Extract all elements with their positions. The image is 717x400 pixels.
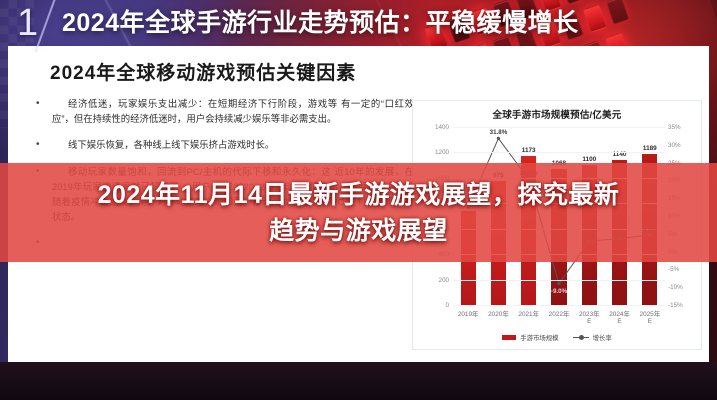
list-item: • 线下娱乐恢复，各种线上线下娱乐挤占游戏时长。 <box>36 137 414 152</box>
legend-item-market-size: 手游市场规模 <box>502 333 558 342</box>
screenshot-root: 1 2024年全球手游行业走势预估：平稳缓慢增长 2024年全球移动游戏预估关键… <box>0 0 717 400</box>
x-tick-label: 2023年E <box>577 309 602 323</box>
section-number: 1 <box>17 2 38 44</box>
legend-item-growth-rate: 增长率 <box>573 333 612 342</box>
x-tick-label: 2024年E <box>607 309 632 323</box>
y-tick-left: 1400 <box>435 124 449 131</box>
line-point-label: 31.8% <box>490 129 508 136</box>
x-tick-label: 2022年 <box>547 309 572 323</box>
y-tick-left: 200 <box>438 277 449 284</box>
overlay-title-line-1: 2024年11月14日最新手游游戏展望，探究最新 <box>98 178 620 212</box>
bullet-text: 线下娱乐恢复，各种线上线下娱乐挤占游戏时长。 <box>52 137 414 152</box>
y-tick-left: 0 <box>445 302 449 309</box>
bottom-dark-band <box>0 362 717 400</box>
chart-x-axis: 2019年2020年2021年2022年2023年E2024年E2025年E <box>453 309 665 323</box>
gridline <box>453 305 665 306</box>
chart-title: 全球手游市场规模预估/亿美元 <box>413 107 701 121</box>
bullet-text: 经济低迷，玩家娱乐支出减少：在短期经济下行阶段，游戏等 有一定的“口红效应”，但… <box>52 96 414 126</box>
x-tick-label: 2020年 <box>486 309 511 323</box>
bullet-marker: • <box>36 137 52 152</box>
x-tick-label: 2019年 <box>456 309 481 323</box>
legend-line-swatch <box>573 335 589 341</box>
gridline <box>453 127 665 128</box>
chart-legend: 手游市场规模 增长率 <box>413 333 701 342</box>
y-tick-right: -15% <box>668 302 683 309</box>
legend-label: 增长率 <box>593 333 612 342</box>
list-item: • 经济低迷，玩家娱乐支出减少：在短期经济下行阶段，游戏等 有一定的“口红效应”… <box>36 96 414 126</box>
legend-label: 手游市场规模 <box>520 333 558 342</box>
header-bar: 1 2024年全球手游行业走势预估：平稳缓慢增长 <box>0 0 717 46</box>
y-tick-right: -5% <box>668 266 679 273</box>
overlay-title: 2024年11月14日最新手游游戏展望，探究最新 趋势与游戏展望 <box>0 163 717 262</box>
y-tick-right: 30% <box>668 142 681 149</box>
y-tick-right: 35% <box>668 124 681 131</box>
gridline <box>453 152 665 153</box>
y-tick-right: -10% <box>668 284 683 291</box>
header-title: 2024年全球手游行业走势预估：平稳缓慢增长 <box>62 7 579 39</box>
x-tick-label: 2021年 <box>516 309 541 323</box>
slide-title: 2024年全球移动游戏预估关键因素 <box>50 58 356 85</box>
overlay-title-line-2: 趋势与游戏展望 <box>269 214 448 248</box>
bullet-marker: • <box>36 96 52 126</box>
legend-bar-swatch <box>502 335 516 340</box>
gridline <box>453 280 665 281</box>
line-point-label: -9.0% <box>551 288 567 295</box>
x-tick-label: 2025年E <box>638 309 663 323</box>
y-tick-left: 1200 <box>435 149 449 156</box>
